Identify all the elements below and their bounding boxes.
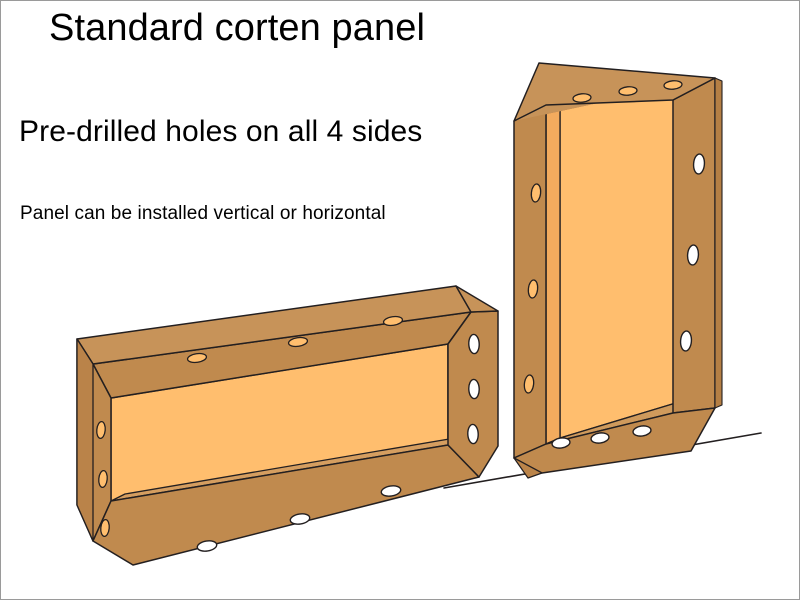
- slide-canvas: Standard corten panel Pre-drilled holes …: [0, 0, 800, 600]
- text-layer: Standard corten panel Pre-drilled holes …: [1, 1, 799, 599]
- subtitle-text: Pre-drilled holes on all 4 sides: [19, 113, 422, 151]
- caption-text: Panel can be installed vertical or horiz…: [20, 201, 386, 227]
- page-title: Standard corten panel: [49, 5, 425, 51]
